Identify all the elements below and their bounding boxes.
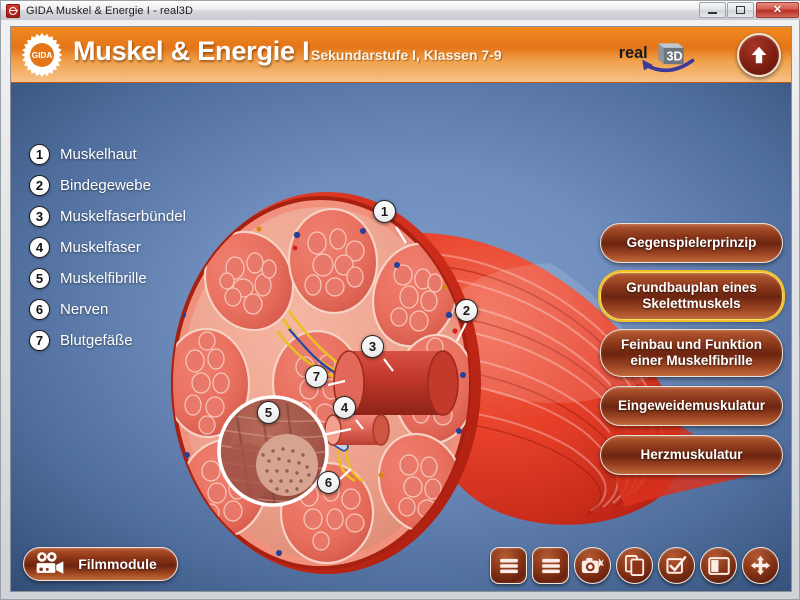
app-header: GIDA Muskel & Energie I Sekundarstufe I,…: [11, 27, 791, 83]
window-title: GIDA Muskel & Energie I - real3D: [26, 5, 193, 17]
svg-text:3D: 3D: [667, 50, 683, 64]
app-stage: GIDA Muskel & Energie I Sekundarstufe I,…: [10, 26, 792, 592]
minimize-icon: [708, 12, 717, 14]
legend-item-5[interactable]: 5 Muskelfibrille: [29, 263, 186, 294]
list-menu-left-icon: [499, 558, 519, 574]
minimize-button[interactable]: [699, 2, 726, 18]
legend-item-2[interactable]: 2 Bindegewebe: [29, 170, 186, 201]
legend-number: 4: [29, 237, 50, 258]
diagram-callout-4[interactable]: 4: [333, 396, 356, 419]
topic-menu: Gegenspielerprinzip Grundbauplan eines S…: [600, 223, 783, 475]
diagram-callout-7[interactable]: 7: [305, 365, 328, 388]
legend-number: 2: [29, 175, 50, 196]
svg-text:real: real: [619, 44, 648, 62]
real3d-logo: real 3D: [617, 38, 725, 74]
list-menu-left-button[interactable]: [490, 547, 527, 584]
legend-item-7[interactable]: 7 Blutgefäße: [29, 325, 186, 356]
legend-label: Nerven: [60, 301, 108, 318]
diagram-callout-6[interactable]: 6: [317, 471, 340, 494]
scroll-up-button[interactable]: [737, 33, 781, 77]
legend-number: 3: [29, 206, 50, 227]
legend-item-3[interactable]: 3 Muskelfaserbündel: [29, 201, 186, 232]
legend-label: Blutgefäße: [60, 332, 133, 349]
menu-button-label: Gegenspielerprinzip: [627, 235, 757, 251]
move-arrows-button[interactable]: [742, 547, 779, 584]
move-arrows-icon: [750, 555, 771, 576]
diagram-callout-2[interactable]: 2: [455, 299, 478, 322]
legend-number: 7: [29, 330, 50, 351]
bottom-toolbar: [490, 547, 779, 584]
filmmodule-label: Filmmodule: [66, 556, 177, 572]
camera-button[interactable]: [574, 547, 611, 584]
camera-icon: [581, 556, 604, 575]
menu-button-herzmuskulatur[interactable]: Herzmuskulatur: [600, 435, 783, 475]
legend-number: 6: [29, 299, 50, 320]
close-button[interactable]: ✕: [756, 2, 799, 18]
copy-pages-button[interactable]: [616, 547, 653, 584]
legend-label: Muskelfaser: [60, 239, 141, 256]
legend-list: 1 Muskelhaut 2 Bindegewebe 3 Muskelfaser…: [29, 139, 186, 356]
layout-panel-icon: [708, 557, 730, 575]
list-menu-right-icon: [541, 558, 561, 574]
page-subtitle: Sekundarstufe I, Klassen 7-9: [311, 47, 502, 63]
legend-label: Muskelfaserbündel: [60, 208, 186, 225]
svg-text:GIDA: GIDA: [32, 51, 53, 60]
list-menu-right-button[interactable]: [532, 547, 569, 584]
scene-area: 1 2 3 4 5 6 7 1 Muskelhaut 2 Bindegewebe…: [11, 83, 791, 592]
gida-logo-icon: GIDA: [19, 32, 65, 78]
menu-button-label: Grundbauplan eines Skelettmuskels: [613, 280, 770, 312]
menu-button-label: Feinbau und Funktion einer Muskelfibrill…: [613, 337, 770, 369]
legend-number: 5: [29, 268, 50, 289]
legend-label: Muskelfibrille: [60, 270, 147, 287]
maximize-button[interactable]: [727, 2, 754, 18]
copy-pages-icon: [625, 555, 645, 576]
checkbox-button[interactable]: [658, 547, 695, 584]
title-bar: GIDA Muskel & Energie I - real3D ✕: [1, 1, 800, 20]
menu-button-eingeweidemuskulatur[interactable]: Eingeweidemuskulatur: [600, 386, 783, 426]
layout-panel-button[interactable]: [700, 547, 737, 584]
legend-number: 1: [29, 144, 50, 165]
checkbox-icon: [666, 556, 687, 575]
menu-button-label: Herzmuskulatur: [640, 447, 742, 463]
application-icon: [6, 4, 20, 18]
close-icon: ✕: [773, 5, 782, 16]
arrow-up-icon: [748, 44, 770, 66]
legend-item-1[interactable]: 1 Muskelhaut: [29, 139, 186, 170]
legend-item-6[interactable]: 6 Nerven: [29, 294, 186, 325]
window-controls: ✕: [698, 2, 799, 18]
application-window: GIDA Muskel & Energie I - real3D ✕ GID: [0, 0, 800, 600]
maximize-icon: [736, 6, 745, 14]
menu-button-grundbauplan[interactable]: Grundbauplan eines Skelettmuskels: [600, 272, 783, 320]
menu-button-gegenspielerprinzip[interactable]: Gegenspielerprinzip: [600, 223, 783, 263]
filmmodule-button[interactable]: Filmmodule: [23, 547, 178, 581]
legend-label: Bindegewebe: [60, 177, 151, 194]
page-title: Muskel & Energie I: [73, 36, 309, 67]
menu-button-label: Eingeweidemuskulatur: [618, 398, 765, 414]
menu-button-feinbau[interactable]: Feinbau und Funktion einer Muskelfibrill…: [600, 329, 783, 377]
legend-label: Muskelhaut: [60, 146, 137, 163]
legend-item-4[interactable]: 4 Muskelfaser: [29, 232, 186, 263]
film-camera-icon: [34, 551, 66, 577]
diagram-callout-1[interactable]: 1: [373, 200, 396, 223]
diagram-callout-3[interactable]: 3: [361, 335, 384, 358]
diagram-callout-5[interactable]: 5: [257, 401, 280, 424]
